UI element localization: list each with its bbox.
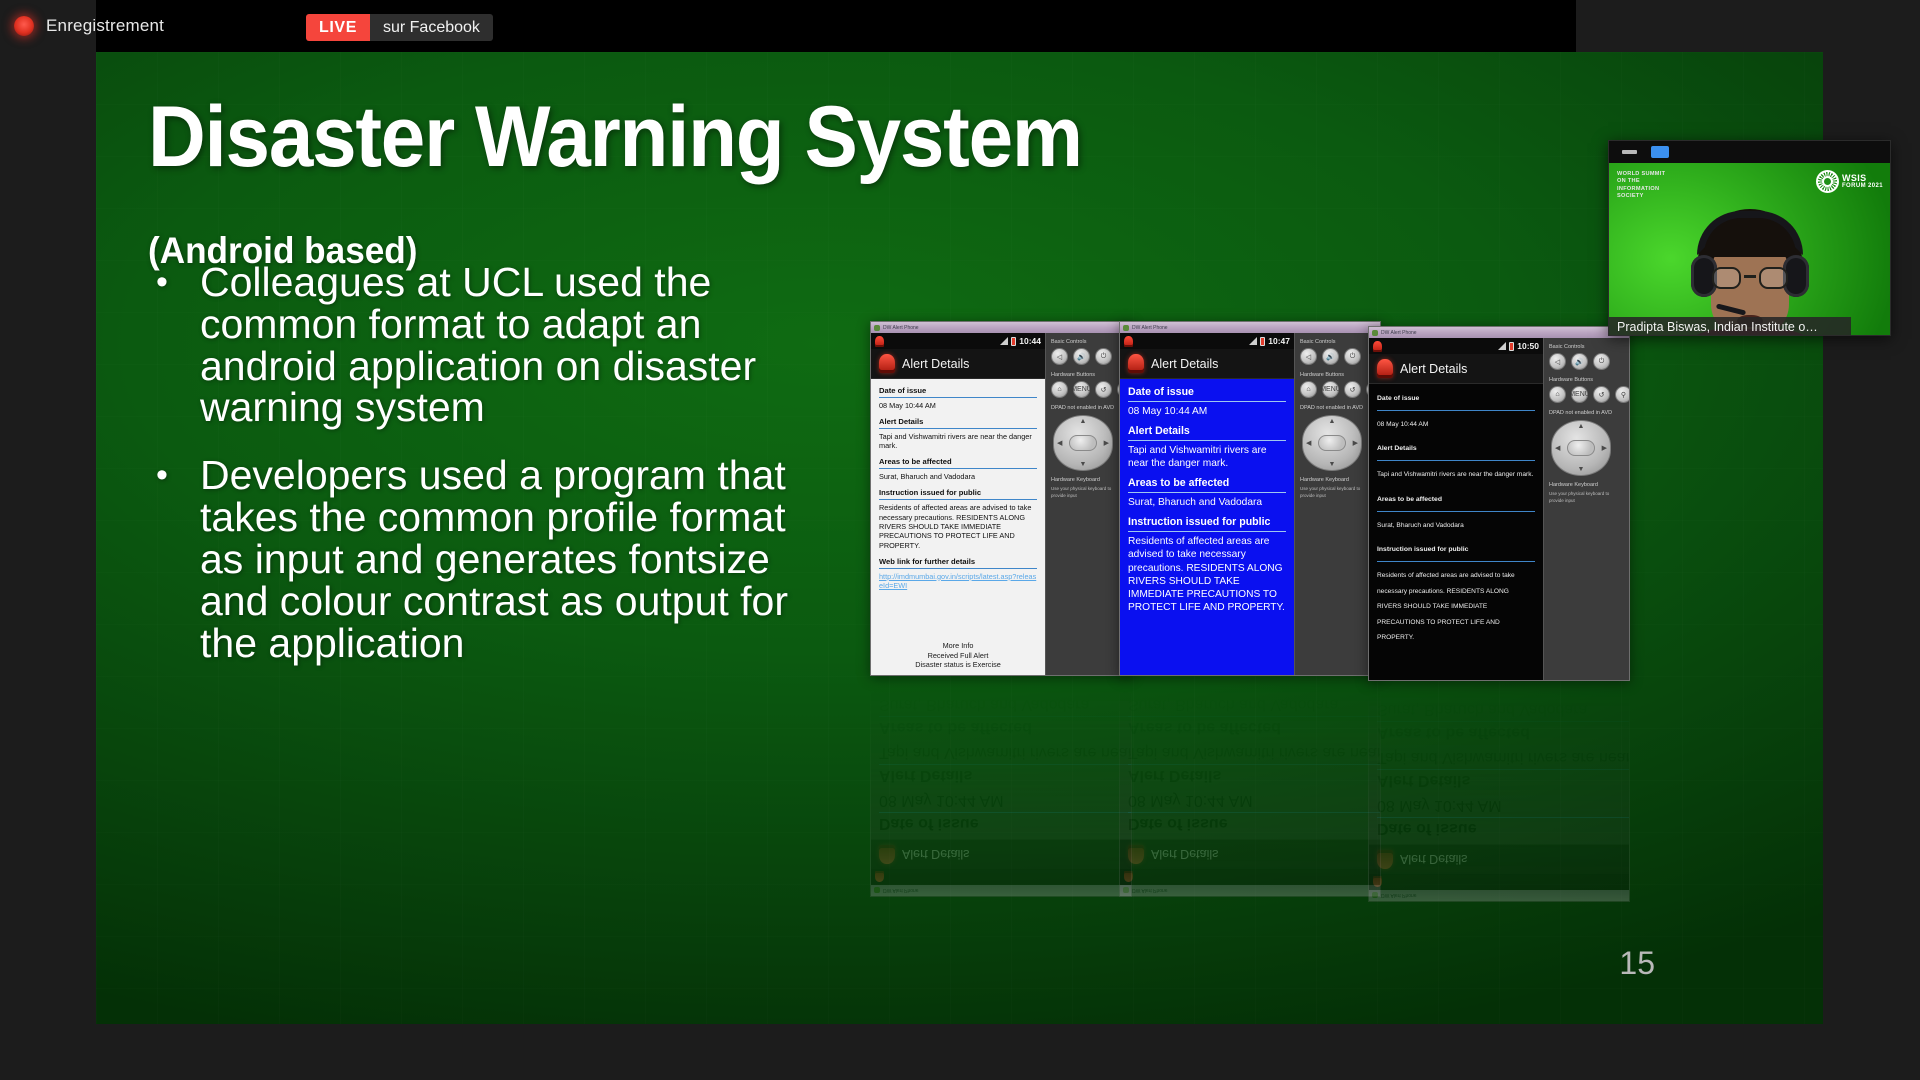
- power-icon[interactable]: ⏻: [1095, 348, 1112, 365]
- status-time: 10:47: [1268, 336, 1290, 346]
- app-siren-icon: [879, 354, 895, 373]
- bullet-text: Colleagues at UCL used the common format…: [200, 262, 828, 429]
- section-body: Tapi and Vishwamitri rivers are near the…: [1128, 743, 1381, 761]
- live-badge: LIVE: [306, 14, 370, 41]
- section-divider: [1377, 511, 1535, 512]
- wsis-wordmark: WSIS FORUM 2021: [1842, 174, 1883, 190]
- dpad-right-icon[interactable]: ▶: [1104, 439, 1109, 447]
- dpad-label: DPAD not enabled in AVD: [1051, 405, 1126, 411]
- volume-icon[interactable]: 🔊: [1571, 353, 1588, 370]
- back-icon[interactable]: ◁: [1549, 353, 1566, 370]
- device-screen: 10:47 Alert Details Date of issue 08 May…: [1120, 333, 1295, 675]
- hardware-buttons-row[interactable]: ⌂ MENU ↺ ⚲: [1300, 381, 1375, 398]
- emulator-window-title: DW Alert Phone: [883, 325, 919, 331]
- section-divider: [1377, 817, 1630, 818]
- android-icon: [1123, 888, 1129, 894]
- section-body: Surat, Bharuch and Vadodara: [879, 472, 1037, 481]
- emulator-window-blue: DW Alert Phone 10:47 Alert Details D: [1119, 321, 1381, 676]
- device-screen: 10:44 Alert Details Date of issue 08 May…: [871, 333, 1046, 675]
- volume-icon[interactable]: 🔊: [1073, 348, 1090, 365]
- basic-controls-label: Basic Controls: [1051, 339, 1126, 345]
- hardware-buttons-label: Hardware Buttons: [1051, 372, 1126, 378]
- wsis-brand: WSIS: [1842, 174, 1883, 183]
- android-icon: [874, 888, 880, 894]
- battery-icon: [1011, 337, 1016, 346]
- section-heading: Instruction issued for public: [1377, 542, 1535, 558]
- weblink[interactable]: http://imdmumbai.gov.in/scripts/latest.a…: [879, 572, 1037, 591]
- device-screen: 10:47 Alert Details Date of issue 08 May…: [1120, 677, 1381, 885]
- section-heading: Alert Details: [879, 417, 1037, 427]
- section-divider: [879, 468, 1037, 469]
- dpad-control[interactable]: ▲ ▼ ◀ ▶: [1551, 420, 1611, 476]
- menu-icon[interactable]: MENU: [1073, 381, 1090, 398]
- wsis-logo: WSIS FORUM 2021: [1816, 170, 1883, 193]
- section-heading: Date of issue: [1377, 819, 1630, 837]
- section-divider: [1377, 410, 1535, 411]
- hardware-buttons-row[interactable]: ⌂ MENU ↺ ⚲: [1549, 386, 1624, 403]
- dpad-center-button[interactable]: [1069, 435, 1097, 451]
- section-body: Surat, Bharuch and Vadodara: [879, 695, 1132, 713]
- search-icon[interactable]: ⚲: [1615, 386, 1629, 403]
- section-heading: Date of issue: [1377, 391, 1535, 407]
- signal-icon: [1498, 342, 1506, 350]
- device-screen: 10:44 Alert Details Date of issue 08 May…: [871, 677, 1132, 885]
- minimize-icon[interactable]: [1622, 150, 1637, 154]
- app-action-bar: Alert Details: [1369, 844, 1630, 874]
- dpad-label: DPAD not enabled in AVD: [1549, 410, 1624, 416]
- section-body: Surat, Bharuch and Vadodara: [1128, 496, 1286, 509]
- section-body: 08 May 10:44 AM: [1377, 417, 1535, 432]
- basic-controls-row[interactable]: ◁ 🔊 ⏻: [1051, 348, 1126, 365]
- section-divider: [879, 764, 1132, 765]
- section-divider: [879, 397, 1037, 398]
- signal-icon: [1000, 337, 1008, 345]
- alert-details-content[interactable]: Date of issue 08 May 10:44 AM Alert Deta…: [1369, 682, 1630, 844]
- back-icon[interactable]: ◁: [1300, 348, 1317, 365]
- app-action-bar: Alert Details: [871, 839, 1132, 869]
- alert-details-content[interactable]: Date of issue 08 May 10:44 AM Alert Deta…: [871, 677, 1132, 839]
- basic-controls-row[interactable]: ◁ 🔊 ⏻: [1300, 348, 1375, 365]
- footer-line: More Info: [871, 641, 1045, 651]
- video-window-controls[interactable]: [1609, 141, 1890, 163]
- dpad-center-button[interactable]: [1567, 440, 1595, 456]
- emulator-window-light: DW Alert Phone 10:44 Alert Details D: [870, 677, 1132, 897]
- alert-siren-icon: [1124, 336, 1133, 347]
- emulator-window-title: DW Alert Phone: [1132, 325, 1168, 331]
- section-heading: Alert Details: [879, 766, 1132, 784]
- android-status-bar: 10:44: [871, 869, 1132, 885]
- page-title: Disaster Warning System: [148, 94, 1082, 180]
- section-heading: Instruction issued for public: [1377, 682, 1630, 693]
- section-heading: Areas to be affected: [1377, 492, 1535, 508]
- dpad-label: DPAD not enabled in AVD: [1300, 405, 1375, 411]
- section-body: Residents of affected areas are advised …: [1128, 535, 1286, 615]
- section-body: 08 May 10:44 AM: [1128, 791, 1381, 809]
- app-title: Alert Details: [902, 848, 969, 862]
- section-divider: [1377, 721, 1630, 722]
- app-siren-icon: [1128, 845, 1144, 864]
- alert-details-content[interactable]: Date of issue 08 May 10:44 AM Alert Deta…: [1120, 677, 1381, 839]
- home-icon[interactable]: ⌂: [1300, 381, 1317, 398]
- recording-status-group: Enregistrement: [14, 0, 164, 52]
- dpad-down-icon[interactable]: ▼: [1080, 461, 1087, 468]
- keyboard-label: Hardware Keyboard: [1300, 477, 1375, 483]
- section-divider: [879, 716, 1132, 717]
- dpad-left-icon[interactable]: ◀: [1057, 439, 1062, 447]
- section-body: Tapi and Vishwamitri rivers are near the…: [879, 743, 1132, 761]
- dpad-left-icon[interactable]: ◀: [1306, 439, 1311, 447]
- rotate-icon[interactable]: ↺: [1593, 386, 1610, 403]
- android-status-bar: 10:50: [1369, 874, 1630, 890]
- list-item: • Developers used a program that takes t…: [148, 455, 828, 664]
- headphone-band-icon: [1697, 211, 1803, 255]
- section-divider: [1377, 460, 1535, 461]
- menu-icon[interactable]: MENU: [1571, 386, 1588, 403]
- section-heading: Alert Details: [1377, 771, 1630, 789]
- emulator-window-dark: DW Alert Phone 10:50 Alert Details D: [1368, 682, 1630, 902]
- section-divider: [1128, 492, 1286, 493]
- section-heading: Alert Details: [1128, 766, 1381, 784]
- back-icon[interactable]: ◁: [1051, 348, 1068, 365]
- emulator-window-title: DW Alert Phone: [883, 888, 919, 894]
- section-body: 08 May 10:44 AM: [1128, 405, 1286, 418]
- section-body: 08 May 10:44 AM: [1377, 796, 1630, 814]
- battery-icon: [1509, 342, 1514, 351]
- home-icon[interactable]: ⌂: [1549, 386, 1566, 403]
- device-screen: 10:50 Alert Details Date of issue 08 May…: [1369, 682, 1630, 890]
- section-heading: Date of issue: [879, 814, 1132, 832]
- section-body: Surat, Bharuch and Vadodara: [1377, 518, 1535, 533]
- app-siren-icon: [879, 845, 895, 864]
- emulator-window-blue: DW Alert Phone 10:47 Alert Details D: [1119, 677, 1381, 897]
- emulator-titlebar: DW Alert Phone: [1120, 322, 1380, 333]
- keyboard-label: Hardware Keyboard: [1051, 477, 1126, 483]
- section-body: Tapi and Vishwamitri rivers are near the…: [1377, 467, 1535, 482]
- section-divider: [1128, 401, 1286, 402]
- android-status-bar: 10:50: [1369, 338, 1543, 354]
- section-heading: Instruction issued for public: [1128, 677, 1381, 688]
- hardware-buttons-label: Hardware Buttons: [1549, 377, 1624, 383]
- speaker-name-caption: Pradipta Biswas, Indian Institute o…: [1609, 317, 1851, 336]
- keyboard-label: Hardware Keyboard: [1549, 482, 1624, 488]
- power-icon[interactable]: ⏻: [1344, 348, 1361, 365]
- android-status-bar: 10:47: [1120, 333, 1294, 349]
- app-siren-icon: [1128, 354, 1144, 373]
- alert-details-content[interactable]: Date of issue 08 May 10:44 AM Alert Deta…: [1369, 384, 1543, 680]
- wsis-line: World Summit: [1617, 171, 1665, 178]
- keyboard-note: Use your physical keyboard to provide in…: [1300, 486, 1375, 500]
- section-body: Surat, Bharuch and Vadodara: [1377, 700, 1630, 718]
- hardware-buttons-row[interactable]: ⌂ MENU ↺ ⚲: [1051, 381, 1126, 398]
- section-body: Surat, Bharuch and Vadodara: [1128, 695, 1381, 713]
- section-heading: Alert Details: [1128, 425, 1286, 439]
- dpad-up-icon[interactable]: ▲: [1578, 423, 1585, 430]
- dpad-control[interactable]: ▲ ▼ ◀ ▶: [1053, 415, 1113, 471]
- slide-page-number: 15: [1619, 945, 1655, 982]
- emulator-titlebar: DW Alert Phone: [871, 322, 1131, 333]
- recording-topbar: Enregistrement LIVE sur Facebook: [0, 0, 1920, 52]
- android-icon: [1372, 330, 1378, 336]
- alert-details-content[interactable]: Date of issue 08 May 10:44 AM Alert Deta…: [1120, 379, 1294, 675]
- footer-line: Received Full Alert: [871, 651, 1045, 661]
- alert-siren-icon: [1124, 872, 1133, 883]
- section-body: Tapi and Vishwamitri rivers are near the…: [1128, 444, 1286, 471]
- wsis-sub: FORUM 2021: [1842, 183, 1883, 189]
- eyeglass-right: [1759, 267, 1788, 289]
- emulator-window-title: DW Alert Phone: [1132, 888, 1168, 894]
- app-title: Alert Details: [1151, 848, 1218, 862]
- section-divider: [1377, 561, 1535, 562]
- restore-icon[interactable]: [1651, 146, 1669, 158]
- section-body: 08 May 10:44 AM: [879, 791, 1132, 809]
- list-item: • Colleagues at UCL used the common form…: [148, 262, 828, 429]
- bullet-list: • Colleagues at UCL used the common form…: [148, 262, 828, 690]
- status-time: 10:50: [1517, 341, 1539, 351]
- section-body: Residents of affected areas are advised …: [1377, 568, 1535, 645]
- wsis-line: Information: [1617, 186, 1665, 193]
- section-heading: Areas to be affected: [879, 457, 1037, 467]
- live-stream-indicator[interactable]: LIVE sur Facebook: [306, 14, 493, 41]
- dpad-down-icon[interactable]: ▼: [1329, 461, 1336, 468]
- section-heading: Date of issue: [1128, 386, 1286, 400]
- android-icon: [874, 325, 880, 331]
- alert-details-content[interactable]: Date of issue 08 May 10:44 AM Alert Deta…: [871, 379, 1045, 638]
- section-heading: Date of issue: [1128, 814, 1381, 832]
- dpad-right-icon[interactable]: ▶: [1353, 439, 1358, 447]
- section-divider: [1128, 716, 1381, 717]
- emulator-titlebar: DW Alert Phone: [1120, 885, 1380, 896]
- wsis-line: On the: [1617, 178, 1665, 185]
- app-action-bar: Alert Details: [1369, 354, 1543, 384]
- video-feed: World Summit On the Information Society …: [1609, 163, 1890, 336]
- app-siren-icon: [1377, 359, 1393, 378]
- section-body: 08 May 10:44 AM: [879, 401, 1037, 410]
- alert-footer: More Info Received Full Alert Disaster s…: [871, 638, 1045, 675]
- section-body: Tapi and Vishwamitri rivers are near the…: [879, 432, 1037, 451]
- section-heading: Instruction issued for public: [1128, 516, 1286, 530]
- section-heading: Instruction issued for public: [879, 677, 1132, 688]
- alert-siren-icon: [875, 872, 884, 883]
- section-heading: Date of issue: [879, 386, 1037, 396]
- app-siren-icon: [1377, 850, 1393, 869]
- section-divider: [879, 812, 1132, 813]
- section-divider: [1128, 764, 1381, 765]
- section-divider: [1128, 440, 1286, 441]
- recording-label: Enregistrement: [46, 16, 164, 36]
- footer-line: Disaster status is Exercise: [871, 660, 1045, 670]
- live-platform-label: sur Facebook: [370, 14, 493, 41]
- app-action-bar: Alert Details: [1120, 839, 1381, 869]
- rotate-icon[interactable]: ↺: [1344, 381, 1361, 398]
- section-divider: [879, 428, 1037, 429]
- device-screen: 10:50 Alert Details Date of issue 08 May…: [1369, 338, 1544, 680]
- section-heading: Alert Details: [1377, 441, 1535, 457]
- alert-siren-icon: [1373, 877, 1382, 888]
- section-heading: Areas to be affected: [1128, 718, 1381, 736]
- section-heading: Areas to be affected: [1377, 723, 1630, 741]
- signal-icon: [1249, 337, 1257, 345]
- keyboard-note: Use your physical keyboard to provide in…: [1549, 491, 1624, 505]
- presentation-slide: Disaster Warning System (Android based) …: [96, 52, 1823, 1024]
- app-action-bar: Alert Details: [1120, 349, 1294, 379]
- section-heading: Areas to be affected: [1128, 477, 1286, 491]
- section-divider: [879, 499, 1037, 500]
- app-action-bar: Alert Details: [871, 349, 1045, 379]
- home-icon[interactable]: ⌂: [1051, 381, 1068, 398]
- section-heading: Areas to be affected: [879, 718, 1132, 736]
- wsis-line: Society: [1617, 193, 1665, 200]
- eyeglass-left: [1712, 267, 1741, 289]
- record-dot-icon: [14, 16, 34, 36]
- menu-icon[interactable]: MENU: [1322, 381, 1339, 398]
- section-heading: Web link for further details: [879, 557, 1037, 567]
- dpad-up-icon[interactable]: ▲: [1080, 418, 1087, 425]
- basic-controls-row[interactable]: ◁ 🔊 ⏻: [1549, 353, 1624, 370]
- battery-icon: [1260, 337, 1265, 346]
- speaker-video-thumbnail[interactable]: World Summit On the Information Society …: [1608, 140, 1891, 336]
- emulator-reflection: DW Alert Phone 10:44 Alert Details D: [870, 677, 1132, 897]
- section-divider: [1377, 769, 1630, 770]
- android-icon: [1123, 325, 1129, 331]
- bullet-marker-icon: •: [148, 455, 200, 496]
- emulator-window-title: DW Alert Phone: [1381, 330, 1417, 336]
- emulator-titlebar: DW Alert Phone: [1369, 327, 1629, 338]
- section-divider: [879, 568, 1037, 569]
- wsis-globe-icon: [1816, 170, 1839, 193]
- emulator-reflection: DW Alert Phone 10:47 Alert Details D: [1119, 677, 1381, 897]
- android-icon: [1372, 893, 1378, 899]
- app-title: Alert Details: [1151, 357, 1218, 371]
- wsis-summit-text: World Summit On the Information Society: [1617, 171, 1665, 201]
- alert-siren-icon: [1373, 341, 1382, 352]
- dpad-control[interactable]: ▲ ▼ ◀ ▶: [1302, 415, 1362, 471]
- emulator-titlebar: DW Alert Phone: [1369, 890, 1629, 901]
- dpad-down-icon[interactable]: ▼: [1578, 466, 1585, 473]
- basic-controls-label: Basic Controls: [1300, 339, 1375, 345]
- emulator-window-title: DW Alert Phone: [1381, 893, 1417, 899]
- section-divider: [1128, 812, 1381, 813]
- dpad-left-icon[interactable]: ◀: [1555, 444, 1560, 452]
- eyeglass-bridge: [1744, 275, 1756, 278]
- bullet-marker-icon: •: [148, 262, 200, 303]
- section-body: Residents of affected areas are advised …: [879, 503, 1037, 550]
- dpad-right-icon[interactable]: ▶: [1602, 444, 1607, 452]
- dpad-up-icon[interactable]: ▲: [1329, 418, 1336, 425]
- android-status-bar: 10:44: [871, 333, 1045, 349]
- rotate-icon[interactable]: ↺: [1095, 381, 1112, 398]
- keyboard-note: Use your physical keyboard to provide in…: [1051, 486, 1126, 500]
- emulator-titlebar: DW Alert Phone: [871, 885, 1131, 896]
- volume-icon[interactable]: 🔊: [1322, 348, 1339, 365]
- android-status-bar: 10:47: [1120, 869, 1381, 885]
- power-icon[interactable]: ⏻: [1593, 353, 1610, 370]
- emulator-window-dark: DW Alert Phone 10:50 Alert Details D: [1368, 326, 1630, 681]
- section-heading: Instruction issued for public: [879, 488, 1037, 498]
- emulator-side-panel: Basic Controls ◁ 🔊 ⏻ Hardware Buttons ⌂ …: [1544, 338, 1629, 680]
- section-divider: [1128, 531, 1286, 532]
- app-title: Alert Details: [902, 357, 969, 371]
- emulator-reflection: DW Alert Phone 10:50 Alert Details D: [1368, 682, 1630, 902]
- app-title: Alert Details: [1400, 853, 1467, 867]
- alert-siren-icon: [875, 336, 884, 347]
- app-title: Alert Details: [1400, 362, 1467, 376]
- emulator-window-light: DW Alert Phone 10:44 Alert Details D: [870, 321, 1132, 676]
- dpad-center-button[interactable]: [1318, 435, 1346, 451]
- section-body: Tapi and Vishwamitri rivers are near the…: [1377, 748, 1630, 766]
- basic-controls-label: Basic Controls: [1549, 344, 1624, 350]
- hardware-buttons-label: Hardware Buttons: [1300, 372, 1375, 378]
- bullet-text: Developers used a program that takes the…: [200, 455, 828, 664]
- status-time: 10:44: [1019, 336, 1041, 346]
